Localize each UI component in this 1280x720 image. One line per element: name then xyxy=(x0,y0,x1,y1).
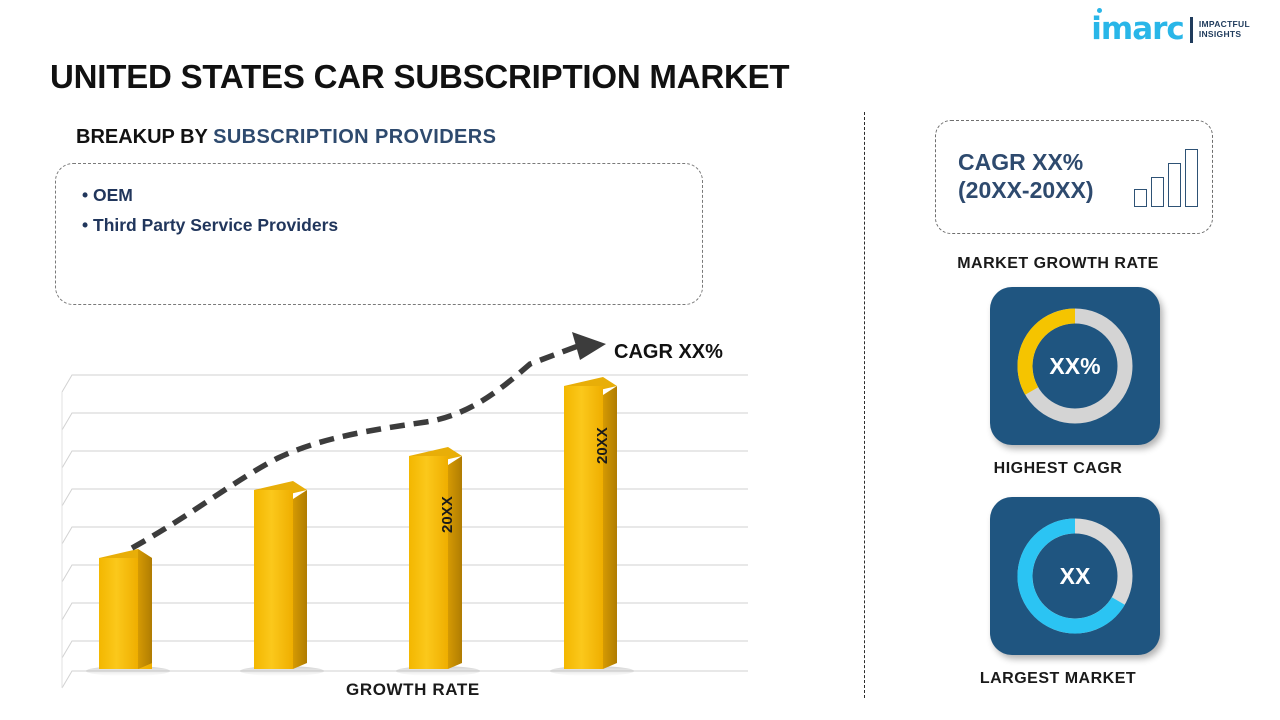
growth-bar-chart xyxy=(60,330,750,705)
section-divider xyxy=(864,112,865,698)
cagr-text: CAGR XX% (20XX-20XX) xyxy=(958,149,1094,204)
highest-cagr-caption: HIGHEST CAGR xyxy=(858,460,1258,478)
segments-box: OEM Third Party Service Providers xyxy=(55,163,703,305)
imarc-logo: imarc IMPACTFUL INSIGHTS xyxy=(1091,14,1250,45)
bar-column xyxy=(564,377,617,669)
logo-tagline: IMPACTFUL INSIGHTS xyxy=(1199,20,1250,39)
cagr-trend-line xyxy=(132,332,606,548)
breakup-lead-label: BREAKUP BY xyxy=(76,126,208,148)
bar-column xyxy=(99,549,152,669)
bar-chart-svg xyxy=(60,330,750,705)
market-growth-rate-caption: MARKET GROWTH RATE xyxy=(858,255,1258,273)
highest-cagr-value: XX% xyxy=(1049,353,1100,380)
segments-list: OEM Third Party Service Providers xyxy=(82,180,702,240)
list-item: OEM xyxy=(82,180,702,210)
list-item: Third Party Service Providers xyxy=(82,210,702,240)
breakup-heading: BREAKUP BY SUBSCRIPTION PROVIDERS xyxy=(76,126,496,149)
trend-arrow-head xyxy=(572,332,606,360)
breakup-accent-label: SUBSCRIPTION PROVIDERS xyxy=(213,126,496,148)
bar-value-label: 20XX xyxy=(439,496,456,533)
logo-wordmark: imarc xyxy=(1091,11,1184,47)
chart-x-axis-label: GROWTH RATE xyxy=(346,680,480,700)
market-growth-rate-card: CAGR XX% (20XX-20XX) xyxy=(935,120,1213,234)
bar-column xyxy=(254,481,307,669)
page-title: UNITED STATES CAR SUBSCRIPTION MARKET xyxy=(50,58,789,96)
largest-market-value: XX xyxy=(1060,563,1091,590)
largest-market-card: XX xyxy=(990,497,1160,655)
bar-value-label: 20XX xyxy=(594,427,611,464)
metrics-panel: CAGR XX% (20XX-20XX) MARKET GROWTH RATE … xyxy=(880,110,1280,710)
logo-divider xyxy=(1190,17,1193,43)
cagr-trend-label: CAGR XX% xyxy=(614,341,723,364)
cagr-value-line: CAGR XX% xyxy=(958,149,1094,177)
bar-column xyxy=(409,447,462,669)
cagr-period-line: (20XX-20XX) xyxy=(958,177,1094,205)
highest-cagr-card: XX% xyxy=(990,287,1160,445)
logo-tagline-line2: INSIGHTS xyxy=(1199,30,1250,40)
largest-market-caption: LARGEST MARKET xyxy=(858,670,1258,688)
bar-growth-icon xyxy=(1134,147,1198,207)
